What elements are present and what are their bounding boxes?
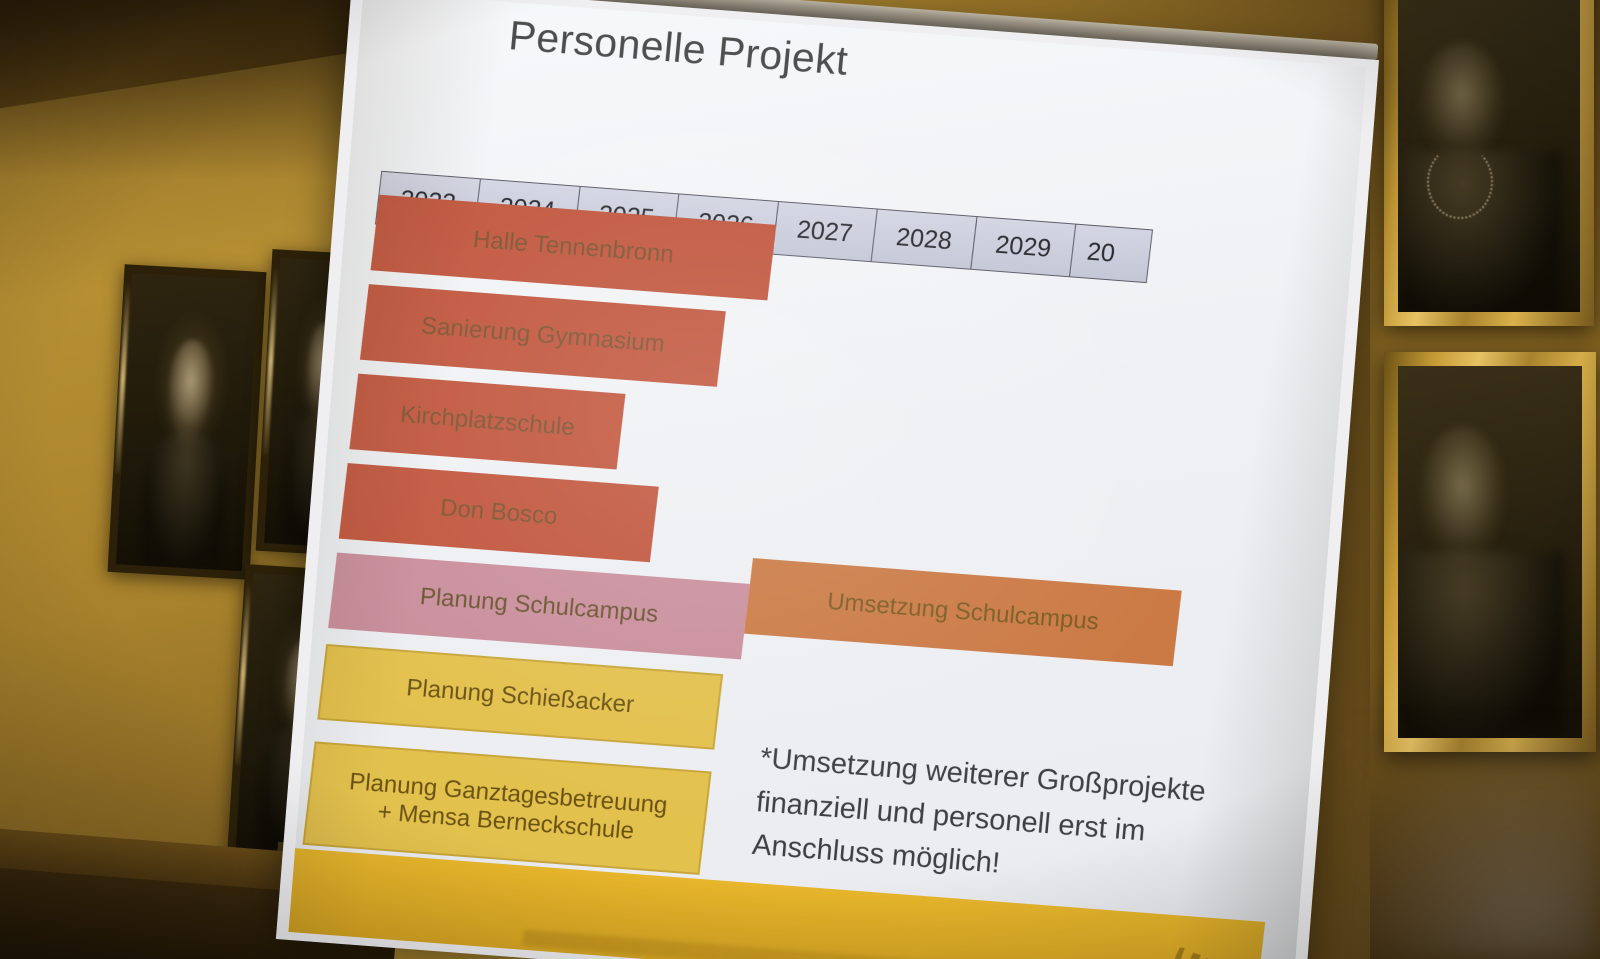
photo-scene: Personelle Projekt 2023 2024 2025 2026 2… [0,0,1600,959]
year-cell-2027: 2027 [771,201,878,262]
gantt-bar-label: Don Bosco [342,487,656,539]
gantt-bar-label: Halle Tennenbronn [374,219,773,277]
portrait-upper-left-a [108,264,267,579]
gantt-bar-umsetzung-schulcampus: Umsetzung Schulcampus [744,558,1182,666]
footer-band-text-illegible [522,930,1082,959]
portrait-right-upper [1384,0,1594,326]
gantt-bar-label: Umsetzung Schulcampus [747,582,1178,643]
gantt-bar-label: Planung Schießacker [323,668,718,726]
gantt-bar-label: Kirchplatzschule [353,397,623,445]
gantt-bar-label: Planung Ganztagesbetreuung+ Mensa Bernec… [308,766,706,851]
year-cell-2028: 2028 [870,208,977,269]
foreground-blur [1350,729,1600,959]
gantt-bar-label: Planung Schulcampus [331,576,746,635]
page-title: Personelle Projekt [507,12,850,85]
footnote-text: *Umsetzung weiterer Großprojekte finanzi… [750,737,1241,903]
portrait-right-lower [1384,352,1596,752]
screen-surface: Personelle Projekt 2023 2024 2025 2026 2… [276,0,1379,959]
slide: Personelle Projekt 2023 2024 2025 2026 2… [288,0,1366,959]
year-cell-2030-cutoff: 20 [1069,224,1153,284]
gantt-bar-planung-schiessacker: Planung Schießacker [317,644,723,750]
gantt-bar-planung-schulcampus: Planung Schulcampus [328,553,750,660]
projection-screen: Personelle Projekt 2023 2024 2025 2026 2… [274,0,1379,959]
gantt-bar-don-bosco: Don Bosco [339,463,659,562]
year-cell-2029: 2029 [970,216,1077,277]
gantt-bar-label: Sanierung Gymnasium [363,308,722,363]
gantt-bar-kirchplatzschule: Kirchplatzschule [349,374,625,470]
city-logo-mark [1153,942,1214,959]
gantt-bar-sanierung-gymnasium: Sanierung Gymnasium [360,284,726,387]
